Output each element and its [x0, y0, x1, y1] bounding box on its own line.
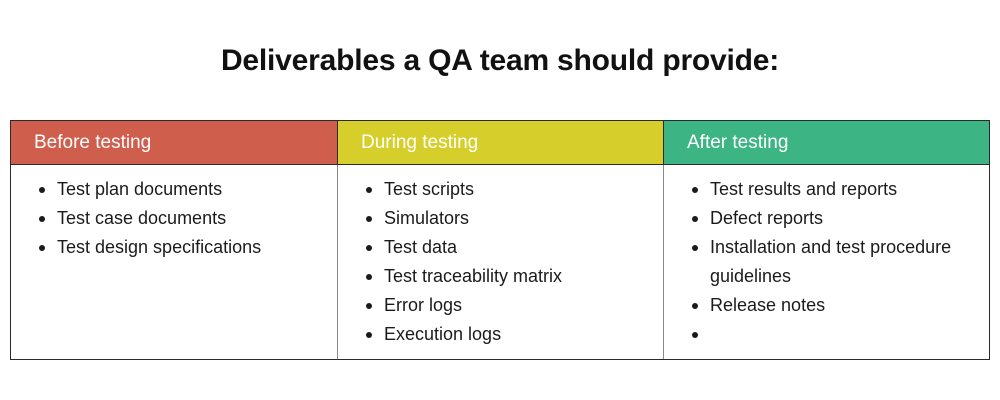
- list-item: Test results and reports: [710, 175, 975, 204]
- list-item-empty: [710, 320, 975, 349]
- list-item: Test traceability matrix: [384, 262, 649, 291]
- table-cell-after-testing: Test results and reports Defect reports …: [663, 165, 989, 359]
- deliverables-table: Before testing During testing After test…: [10, 120, 990, 360]
- column-header-before-testing: Before testing: [11, 121, 337, 164]
- deliverables-list-before-testing: Test plan documents Test case documents …: [25, 175, 323, 262]
- table-cell-during-testing: Test scripts Simulators Test data Test t…: [337, 165, 663, 359]
- list-item: Test data: [384, 233, 649, 262]
- list-item: Installation and test procedure guidelin…: [710, 233, 975, 291]
- list-item: Execution logs: [384, 320, 649, 349]
- deliverables-list-after-testing: Test results and reports Defect reports …: [678, 175, 975, 349]
- deliverables-list-during-testing: Test scripts Simulators Test data Test t…: [352, 175, 649, 349]
- slide-root: Deliverables a QA team should provide: B…: [0, 0, 1000, 400]
- list-item: Test scripts: [384, 175, 649, 204]
- column-header-after-testing: After testing: [663, 121, 989, 164]
- table-body-row: Test plan documents Test case documents …: [11, 165, 989, 359]
- table-header-row: Before testing During testing After test…: [11, 121, 989, 165]
- list-item: Defect reports: [710, 204, 975, 233]
- list-item: Simulators: [384, 204, 649, 233]
- table-cell-before-testing: Test plan documents Test case documents …: [11, 165, 337, 359]
- list-item: Release notes: [710, 291, 975, 320]
- list-item: Test design specifications: [57, 233, 323, 262]
- page-title: Deliverables a QA team should provide:: [0, 43, 1000, 79]
- column-header-during-testing: During testing: [337, 121, 663, 164]
- list-item: Test case documents: [57, 204, 323, 233]
- list-item: Error logs: [384, 291, 649, 320]
- list-item: Test plan documents: [57, 175, 323, 204]
